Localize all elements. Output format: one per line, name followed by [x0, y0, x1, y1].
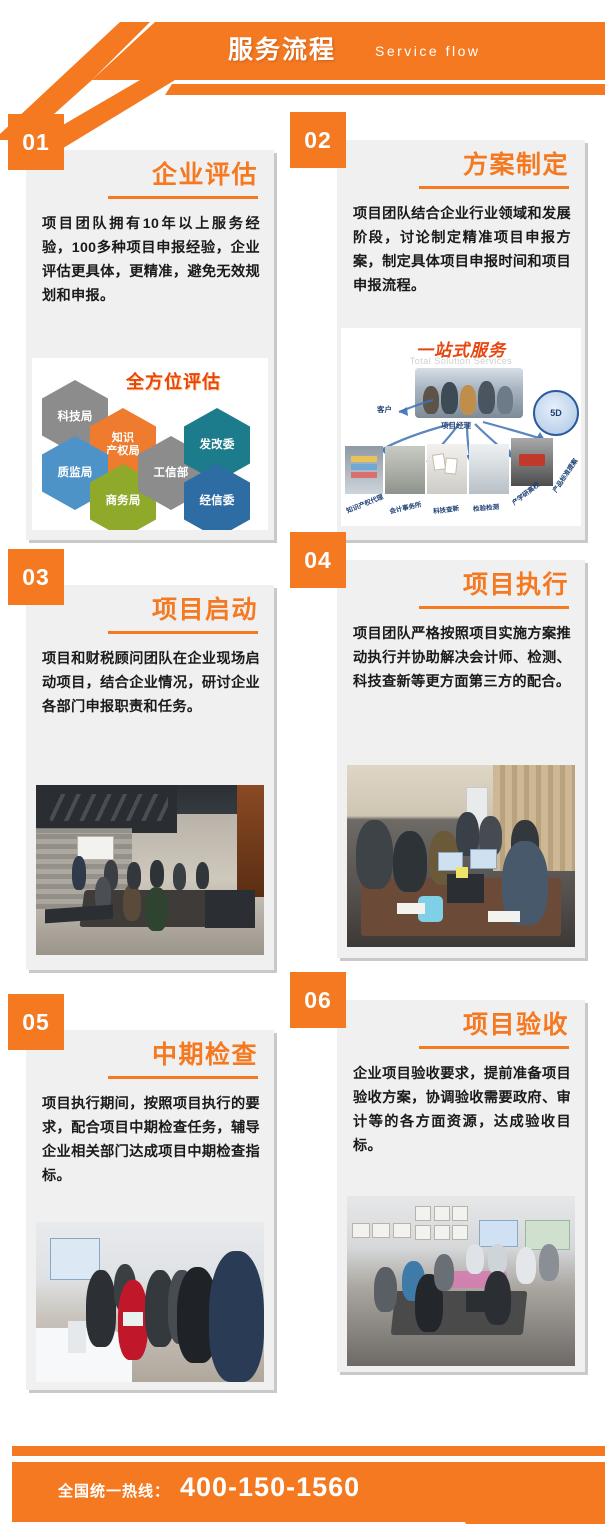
step-body-06: 企业项目验收要求，提前准备项目验收方案，协调验收需要政府、审计等的各方面资源，达…	[353, 1062, 571, 1158]
page-title: 服务流程	[228, 30, 336, 70]
step-body-05: 项目执行期间，按照项目执行的要求，配合项目中期检查任务，辅导企业相关部门达成项目…	[42, 1092, 260, 1188]
step-body-04: 项目团队严格按照项目实施方案推动执行并协助解决会计师、检测、科技查新等更方面第三…	[353, 622, 571, 694]
step-number-badge-01: 01	[8, 114, 64, 170]
one-stop-tile-ip	[345, 446, 383, 494]
step-title-underline-03	[108, 631, 258, 634]
step-number-badge-03: 03	[8, 549, 64, 605]
step-number-badge-06: 06	[290, 972, 346, 1028]
step-body-01: 项目团队拥有10年以上服务经验，100多种项目申报经验，企业评估更具体，更精准，…	[42, 212, 260, 308]
hotline-number[interactable]: 400-150-1560	[180, 1472, 360, 1503]
step-title-06: 项目验收	[463, 1008, 569, 1042]
step-body-03: 项目和财税顾问团队在企业现场启动项目，结合企业情况，研讨企业各部门申报职责和任务…	[42, 647, 260, 719]
step-title-04: 项目执行	[463, 568, 569, 602]
one-stop-tile-accounting	[385, 446, 425, 494]
step-number-badge-05: 05	[8, 994, 64, 1050]
step-card-06: 06 项目验收 企业项目验收要求，提前准备项目验收方案，协调验收需要政府、审计等…	[337, 1000, 585, 1372]
header-stripe	[0, 84, 605, 95]
one-stop-node-customer: 客户	[377, 404, 392, 415]
service-flow-infographic: 服务流程 Service flow 01 企业评估 项目团队拥有10年以上服务经…	[0, 0, 605, 1538]
step-card-05: 05 中期检查 项目执行期间，按照项目执行的要求，配合项目中期检查任务，辅导企业…	[26, 1030, 274, 1390]
step-card-02: 02 方案制定 项目团队结合企业行业领域和发展阶段，讨论制定精准项目申报方案，制…	[337, 140, 585, 540]
step-body-02: 项目团队结合企业行业领域和发展阶段，讨论制定精准项目申报方案，制定具体项目申报时…	[353, 202, 571, 298]
step-title-05: 中期检查	[152, 1038, 258, 1072]
step-number-badge-04: 04	[290, 532, 346, 588]
step-title-03: 项目启动	[152, 593, 258, 627]
step-title-underline-05	[108, 1076, 258, 1079]
step-title-01: 企业评估	[152, 158, 258, 192]
step-card-04: 04 项目执行 项目团队严格按照项目实施方案推动执行并协助解决会计师、检测、科技…	[337, 560, 585, 958]
step-title-underline-01	[108, 196, 258, 199]
step-number-badge-02: 02	[290, 112, 346, 168]
one-stop-tile-testing	[469, 444, 509, 494]
one-stop-tile-novelty	[427, 444, 467, 494]
hotline-label: 全国统一热线：	[58, 1480, 170, 1501]
step-photo-06	[347, 1196, 575, 1366]
step-title-02: 方案制定	[463, 148, 569, 182]
step-title-underline-04	[419, 606, 569, 609]
step-title-underline-02	[419, 186, 569, 189]
one-stop-tile-university	[511, 438, 553, 486]
step-photo-04	[347, 765, 575, 947]
one-stop-node-manager: 项目经理	[441, 420, 471, 431]
page-header: 服务流程 Service flow	[0, 0, 605, 104]
step-photo-05	[36, 1222, 264, 1382]
page-subtitle: Service flow	[375, 41, 480, 61]
step-title-underline-06	[419, 1046, 569, 1049]
hex-diagram-title: 全方位评估	[126, 368, 221, 394]
assessment-hex-diagram: 全方位评估 科技局 知识 产权局 质监局 商务局 工信部 发改委 经信委	[32, 358, 268, 530]
step-photo-03	[36, 785, 264, 955]
page-footer: 全国统一热线： 400-150-1560	[0, 1414, 605, 1538]
one-stop-service-diagram: 一站式服务 Total Solution Services	[341, 328, 581, 526]
step-card-03: 03 项目启动 项目和财税顾问团队在企业现场启动项目，结合企业情况，研讨企业各部…	[26, 585, 274, 970]
one-stop-seal-badge: 5D	[533, 390, 579, 436]
step-card-01: 01 企业评估 项目团队拥有10年以上服务经验，100多种项目申报经验，企业评估…	[26, 150, 274, 540]
